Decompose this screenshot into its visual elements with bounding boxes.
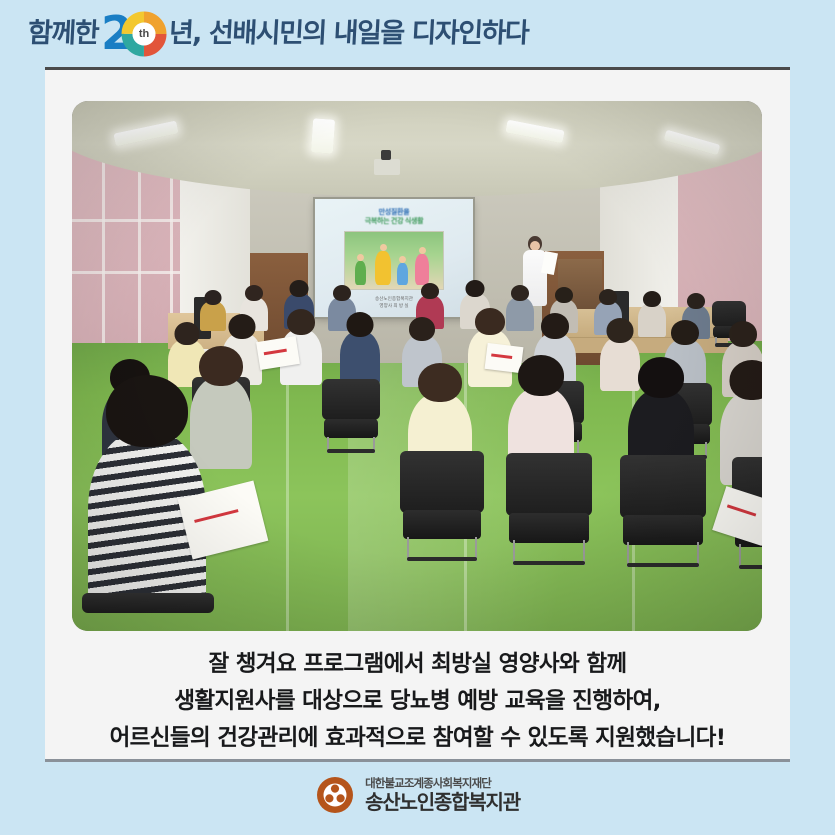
caption-line-2: 생활지원사를 대상으로 당뇨병 예방 교육을 진행하여, [45,683,790,720]
audience-person [190,377,252,469]
slide-figure [415,254,429,285]
slide-title: 만성질환을 극복하는 건강 식생활 [315,208,473,226]
anniversary-20th-logo: 2 th [101,10,167,58]
footer-organization: 대한불교조계종사회복지재단 [365,776,520,790]
slide-title-line2: 극복하는 건강 식생활 [315,217,473,226]
ceiling-projector [374,159,400,175]
header-brand: 함께한 2 th 년, 선배시민의 내일을 디자인하다 [28,8,528,60]
audience-person [506,297,534,331]
slide-figure [355,261,366,285]
slide-figure [397,263,408,285]
slide-title-line1: 만성질환을 [315,208,473,217]
header-banner: 함께한 2 th 년, 선배시민의 내일을 디자인하다 [0,0,835,67]
slide-figure [375,251,391,285]
chair-foreground [82,593,214,629]
event-photo: 만성질환을 극복하는 건강 식생활 송산노인종합복지관 영양사 최 방 실 [72,101,762,631]
footer-text-group: 대한불교조계종사회복지재단 송산노인종합복지관 [365,776,520,814]
ceiling-light [114,120,179,146]
logo-color-ring: th [121,11,167,57]
caption-block: 잘 챙겨요 프로그램에서 최방실 영양사와 함께 생활지원사를 대상으로 당뇨병… [45,646,790,757]
logo-superscript-th: th [121,11,167,57]
ceiling-light [311,118,335,153]
audience-person [600,337,640,391]
photo-scene: 만성질환을 극복하는 건강 식생활 송산노인종합복지관 영양사 최 방 실 [72,101,762,631]
content-card: 만성질환을 극복하는 건강 식생활 송산노인종합복지관 영양사 최 방 실 [45,67,790,762]
chair [322,379,380,453]
wall-mullion [102,143,105,343]
ceiling-light [506,120,565,144]
footer-center-name: 송산노인종합복지관 [365,790,520,814]
caption-line-1: 잘 챙겨요 프로그램에서 최방실 영양사와 함께 [45,646,790,683]
chair [400,451,484,561]
wall-rail [72,271,194,274]
wall-rail [72,219,194,222]
jogye-foundation-logo-icon [315,775,355,815]
header-text-before: 함께한 [27,20,98,47]
handout-paper [485,343,524,373]
chair [506,453,592,565]
slide-illustration [344,231,444,290]
header-text-after: 년, 선배시민의 내일을 디자인하다 [168,20,529,47]
ceiling-light [664,129,721,155]
caption-line-3: 어르신들의 건강관리에 효과적으로 참여할 수 있도록 지원했습니다! [45,720,790,757]
audience-person [200,301,226,331]
footer: 대한불교조계종사회복지재단 송산노인종합복지관 [0,775,835,815]
chair [620,455,706,567]
audience-person [340,331,380,385]
wall-mullion [138,143,141,343]
audience-person [638,303,666,337]
